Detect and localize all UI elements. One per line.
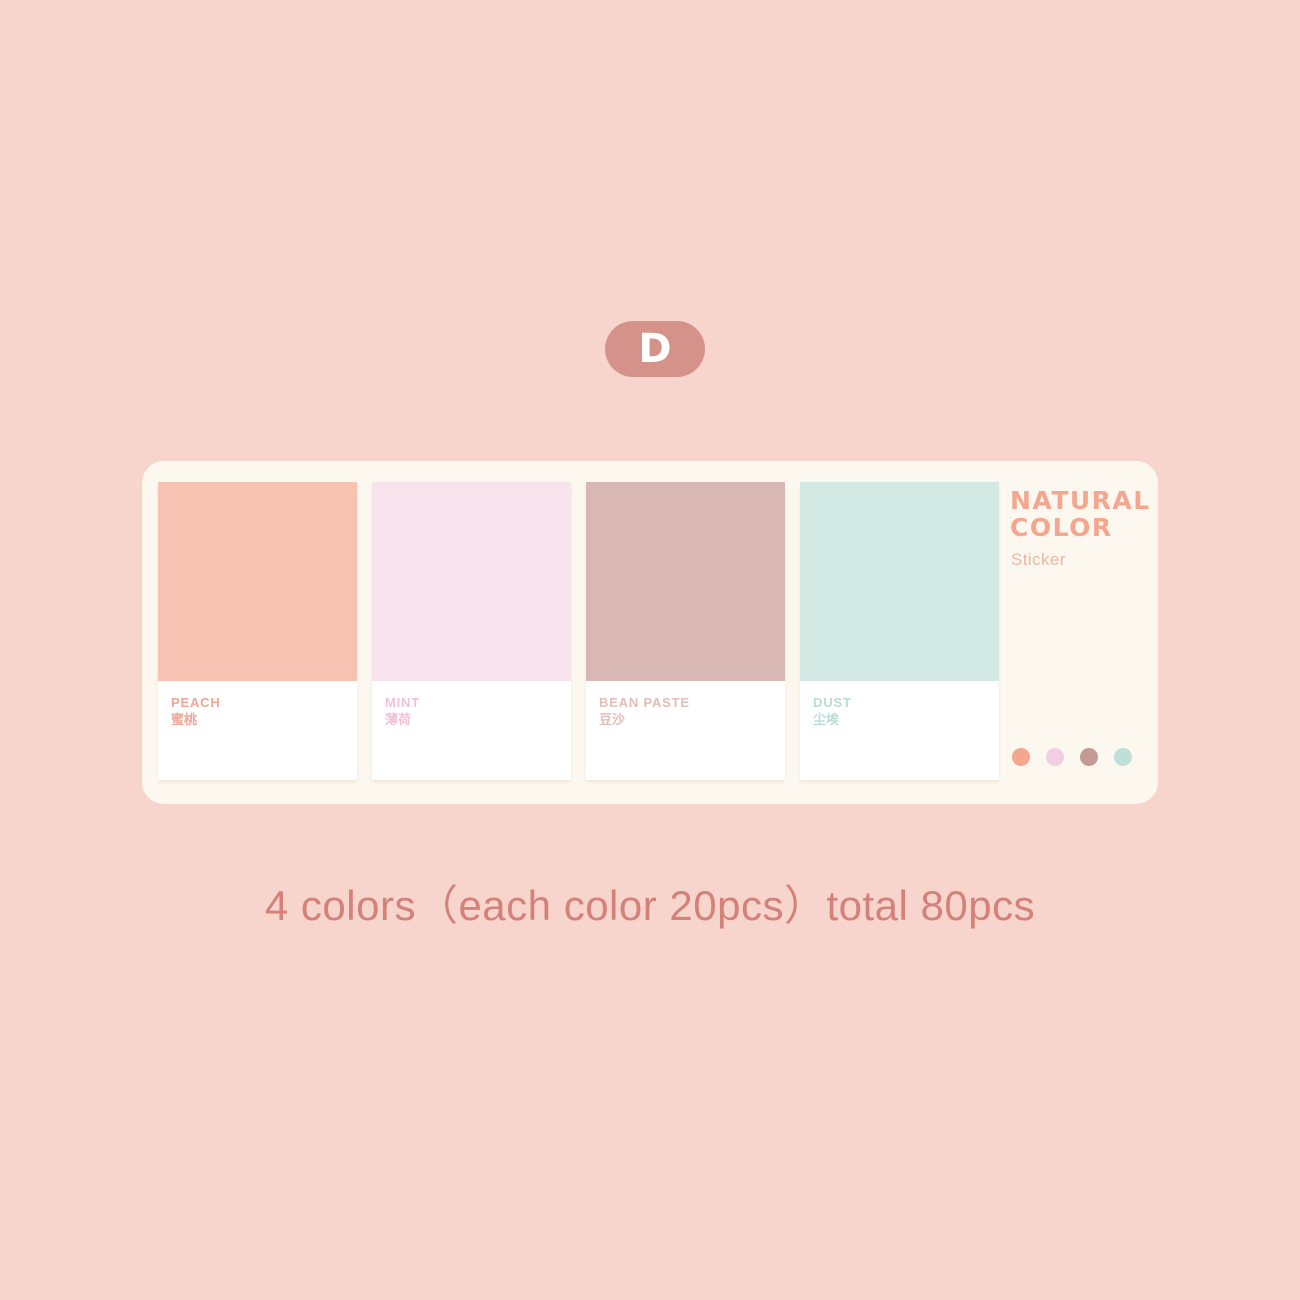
swatch-info: MINT 薄荷 [372,681,571,780]
color-swatch-dust[interactable]: DUST 尘埃 [800,482,999,780]
swatch-name-cn: 豆沙 [599,713,772,730]
color-swatch-mint[interactable]: MINT 薄荷 [372,482,571,780]
color-dot-dust [1114,748,1132,766]
swatch-info: DUST 尘埃 [800,681,999,780]
variant-badge[interactable]: D [605,321,705,377]
swatch-name-en: PEACH [171,695,344,711]
quantity-caption: 4 colors（each color 20pcs）total 80pcs [0,872,1300,933]
swatch-name-en: MINT [385,695,558,711]
swatch-color-block [586,482,785,681]
swatch-color-block [800,482,999,681]
brand-panel: NATURAL COLOR Sticker [998,461,1158,804]
swatch-info: PEACH 蜜桃 [158,681,357,780]
swatch-row: PEACH 蜜桃 MINT 薄荷 BEAN PASTE 豆沙 DUST 尘埃 [158,482,999,780]
swatch-info: BEAN PASTE 豆沙 [586,681,785,780]
variant-badge-label: D [638,329,671,369]
color-swatch-peach[interactable]: PEACH 蜜桃 [158,482,357,780]
swatch-color-block [372,482,571,681]
swatch-name-cn: 薄荷 [385,713,558,730]
brand-subtitle: Sticker [1011,550,1066,570]
swatch-name-cn: 尘埃 [813,713,986,730]
swatch-name-en: BEAN PASTE [599,695,772,711]
color-swatch-bean-paste[interactable]: BEAN PASTE 豆沙 [586,482,785,780]
color-dot-peach [1012,748,1030,766]
color-dot-bean-paste [1080,748,1098,766]
color-dot-mint [1046,748,1064,766]
product-card: PEACH 蜜桃 MINT 薄荷 BEAN PASTE 豆沙 DUST 尘埃 [142,461,1158,804]
swatch-name-en: DUST [813,695,986,711]
swatch-name-cn: 蜜桃 [171,713,344,730]
brand-color-dots [1012,748,1132,766]
swatch-color-block [158,482,357,681]
brand-title: NATURAL COLOR [1010,488,1151,541]
